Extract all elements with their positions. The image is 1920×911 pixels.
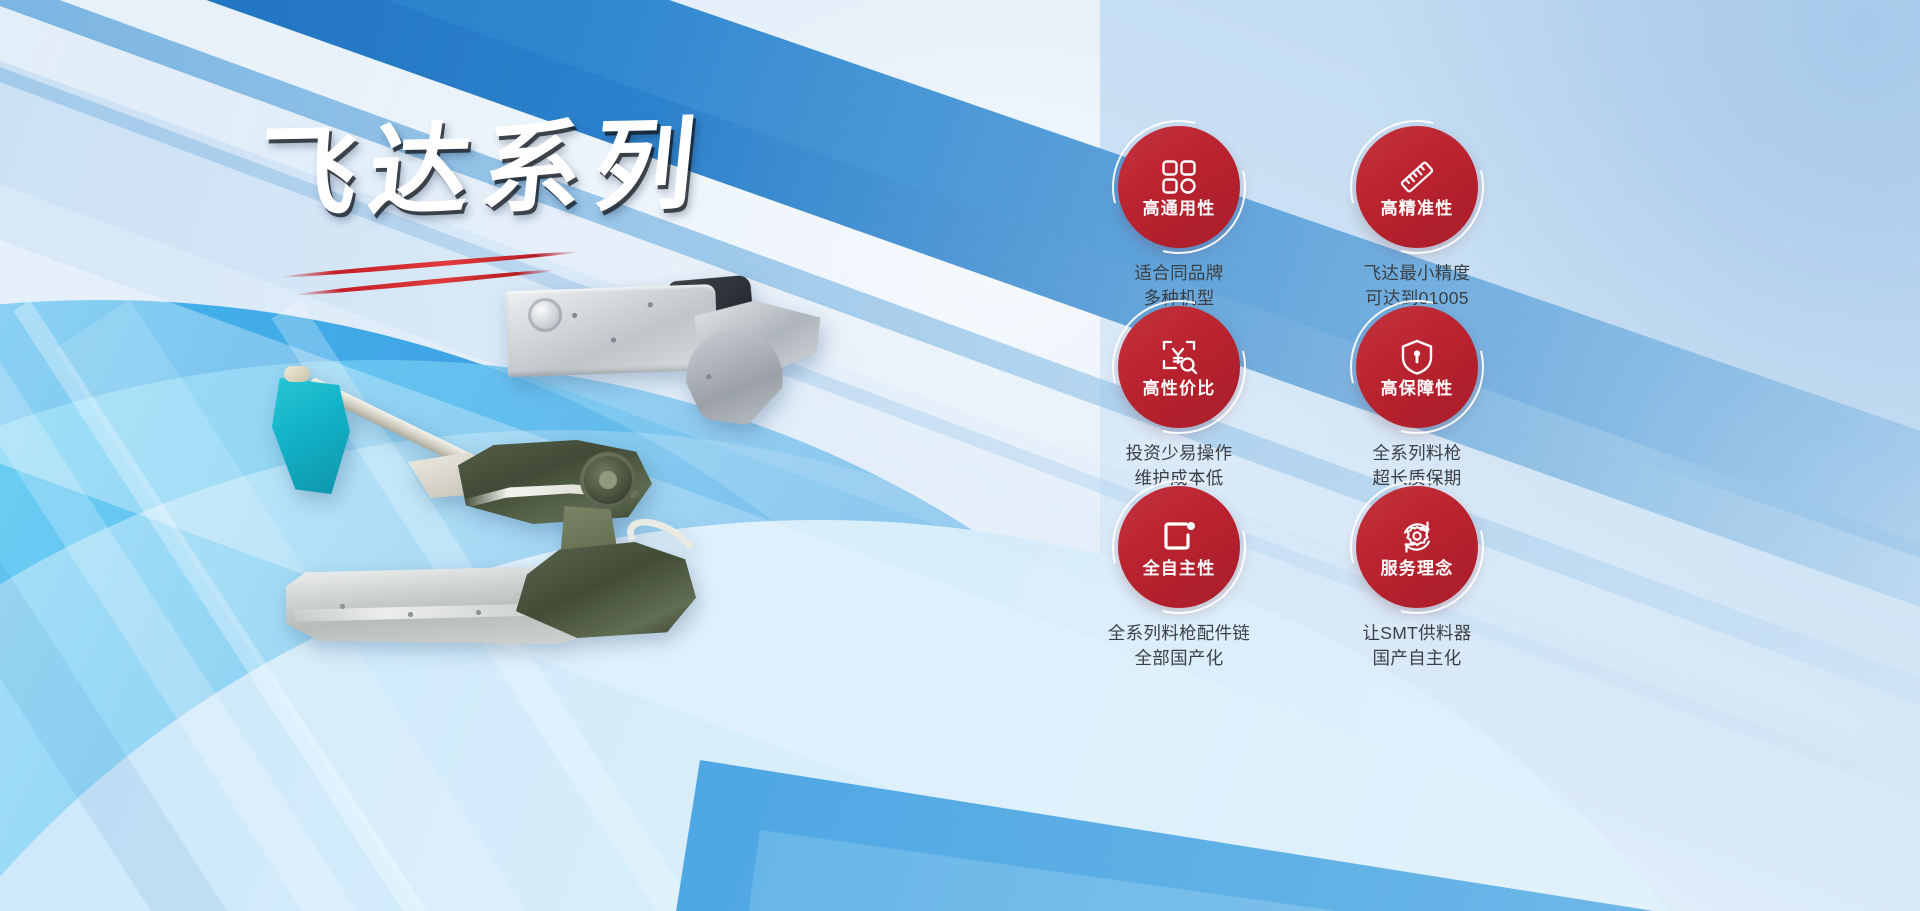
feature-desc-line: 全系列料枪配件链 bbox=[1060, 621, 1298, 646]
feature-title: 高性价比 bbox=[1143, 380, 1216, 397]
feeder-screw bbox=[408, 612, 413, 617]
product-image-long-olive-smt-feeder bbox=[280, 500, 720, 670]
feature-item-full-autonomy[interactable]: 全自主性 全系列料枪配件链 全部国产化 bbox=[1060, 486, 1298, 666]
promo-banner: 飞达系列 bbox=[0, 0, 1920, 911]
feature-badge[interactable]: 高精准性 bbox=[1356, 126, 1478, 248]
feature-desc-line: 让SMT供料器 bbox=[1298, 621, 1536, 646]
feature-grid: 高通用性 适合同品牌 多种机型 高精准性 bbox=[1060, 126, 1536, 666]
feature-desc-line: 国产自主化 bbox=[1298, 646, 1536, 671]
feeder-teal-handle bbox=[272, 378, 350, 494]
feature-badge[interactable]: 高保障性 bbox=[1356, 306, 1478, 428]
feature-badge[interactable]: 服务理念 bbox=[1356, 486, 1478, 608]
feeder-knob bbox=[284, 366, 310, 382]
feature-item-high-versatility[interactable]: 高通用性 适合同品牌 多种机型 bbox=[1060, 126, 1298, 306]
red-stroke-1 bbox=[280, 249, 579, 279]
feature-badge[interactable]: 高性价比 bbox=[1118, 306, 1240, 428]
feeder-screw bbox=[476, 610, 481, 615]
feeder-screw bbox=[340, 604, 345, 609]
feature-item-high-assurance[interactable]: 高保障性 全系列料枪 超长质保期 bbox=[1298, 306, 1536, 486]
feature-badge[interactable]: 全自主性 bbox=[1118, 486, 1240, 608]
feature-item-service-philosophy[interactable]: 服务理念 让SMT供料器 国产自主化 bbox=[1298, 486, 1536, 666]
feature-desc-line: 全部国产化 bbox=[1060, 646, 1298, 671]
feature-desc-line: 适合同品牌 bbox=[1060, 261, 1298, 286]
page-title: 飞达系列 bbox=[252, 113, 783, 224]
feature-badge[interactable]: 高通用性 bbox=[1118, 126, 1240, 248]
feature-title: 服务理念 bbox=[1381, 560, 1454, 577]
feature-title: 高通用性 bbox=[1143, 200, 1216, 217]
feature-title: 全自主性 bbox=[1143, 560, 1216, 577]
ruler-icon bbox=[1397, 157, 1437, 197]
bracket-dot-icon bbox=[1159, 517, 1199, 557]
feature-desc-line: 飞达最小精度 bbox=[1298, 261, 1536, 286]
feature-desc-line: 投资少易操作 bbox=[1060, 441, 1298, 466]
feature-description: 全系列料枪配件链 全部国产化 bbox=[1060, 621, 1298, 672]
feature-item-high-precision[interactable]: 高精准性 飞达最小精度 可达到01005 bbox=[1298, 126, 1536, 306]
price-search-icon bbox=[1159, 337, 1199, 377]
feature-title: 高保障性 bbox=[1381, 380, 1454, 397]
feature-title: 高精准性 bbox=[1381, 200, 1454, 217]
feature-description: 让SMT供料器 国产自主化 bbox=[1298, 621, 1536, 672]
gear-refresh-icon bbox=[1397, 517, 1437, 557]
feature-item-cost-effective[interactable]: 高性价比 投资少易操作 维护成本低 bbox=[1060, 306, 1298, 486]
grid-squares-icon bbox=[1159, 157, 1199, 197]
shield-lock-icon bbox=[1397, 337, 1437, 377]
feature-desc-line: 全系列料枪 bbox=[1298, 441, 1536, 466]
